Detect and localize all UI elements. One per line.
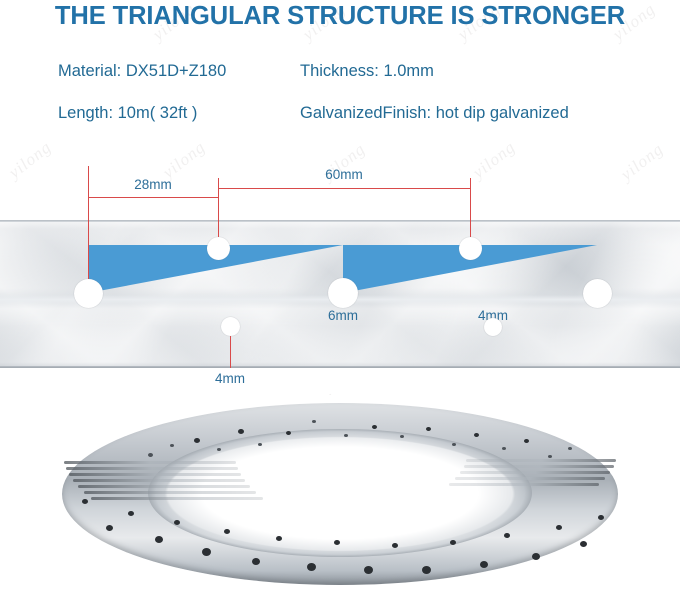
dim-60-label: 60mm — [309, 167, 379, 182]
coil-wrap-layer — [91, 497, 263, 500]
coil-wrap-layer — [460, 471, 610, 474]
strip-bottom-edge — [0, 366, 680, 368]
dim-4-bottom-label: 4mm — [197, 371, 263, 386]
coil-wrap-layer — [64, 461, 236, 464]
coil-wrap-layer — [73, 479, 245, 482]
spec-finish: GalvanizedFinish: hot dip galvanized — [300, 104, 569, 123]
coil-perforation — [364, 566, 373, 574]
coil-perforation — [155, 536, 163, 543]
coil-perforation — [258, 443, 262, 446]
hole-offset-top-1 — [207, 237, 230, 260]
coil-perforation — [202, 548, 211, 556]
coil-perforation — [217, 448, 221, 451]
coil-perforation — [286, 431, 291, 435]
coil-perforation — [224, 529, 230, 534]
spec-length: Length: 10m( 32ft ) — [58, 104, 197, 123]
coil-perforation — [174, 520, 180, 525]
coil-wrap-layer — [84, 491, 256, 494]
coil-perforation — [392, 543, 398, 548]
dim-28-label: 28mm — [118, 177, 188, 192]
coil-perforation — [170, 444, 174, 447]
product-infographic-page: yilong yilong yilong yilong yilong yilon… — [0, 0, 680, 593]
coil-wrap-layer — [66, 467, 238, 470]
spec-material: Material: DX51D+Z180 — [58, 62, 226, 81]
coil-perforation — [82, 499, 88, 504]
spec-thickness: Thickness: 1.0mm — [300, 62, 434, 81]
coil-perforation — [372, 425, 377, 429]
dim-28-line — [88, 197, 218, 198]
coil-perforation — [598, 515, 604, 520]
coil-wrap-layer — [69, 473, 241, 476]
coil-perforation — [106, 525, 113, 531]
coil-perforation — [568, 447, 572, 450]
dim-28-left-tick — [88, 166, 89, 200]
coil-perforation — [148, 453, 153, 457]
coil-perforation — [422, 566, 431, 574]
coil-perforation — [400, 435, 404, 438]
hole-left-edge — [74, 279, 103, 308]
coil-perforation — [556, 525, 562, 530]
coil-perforation — [548, 455, 552, 458]
coil-perforation — [334, 540, 340, 545]
coil-perforation — [450, 540, 456, 545]
coil-perforation — [344, 434, 348, 437]
coil-wrap-layer — [78, 485, 250, 488]
coil-perforation — [504, 533, 510, 538]
coil-wrap-layer — [455, 477, 605, 480]
strip-dimension-diagram: 28mm 60mm 6mm 4mm 4mm — [0, 150, 680, 395]
hole-bottom-4mm — [221, 317, 240, 336]
coil-wrap-layer — [464, 465, 614, 468]
coil-perforation — [307, 563, 316, 571]
hole-offset-top-2 — [459, 237, 482, 260]
strip-top-edge — [0, 220, 680, 222]
coil-perforation — [426, 427, 431, 431]
coil-perforation — [474, 433, 479, 437]
coil-wrap-layer — [449, 483, 599, 486]
hole-right-edge — [583, 279, 612, 308]
coil-perforation — [238, 429, 244, 434]
coil-perforation — [252, 558, 260, 565]
coil-perforation — [194, 438, 200, 443]
coil-perforation — [276, 536, 282, 541]
dim-60-line — [218, 188, 470, 189]
coiled-banding — [62, 403, 618, 585]
coil-perforation — [502, 447, 506, 450]
hole-right-4mm — [484, 318, 502, 336]
coil-perforation — [128, 511, 134, 516]
coil-perforation — [452, 443, 456, 446]
coil-perforation — [312, 420, 316, 423]
coil-perforation — [524, 439, 529, 443]
dim-6-label: 6mm — [310, 308, 376, 323]
hole-center-6mm — [328, 278, 358, 308]
page-title: THE TRIANGULAR STRUCTURE IS STRONGER — [0, 2, 680, 31]
coil-perforation — [480, 561, 488, 568]
triangle-left-right-half — [218, 245, 343, 293]
coil-perforation — [532, 553, 540, 560]
coil-perforation — [580, 541, 587, 547]
product-photo-area — [0, 395, 680, 593]
coil-wrap-layer — [466, 459, 616, 462]
